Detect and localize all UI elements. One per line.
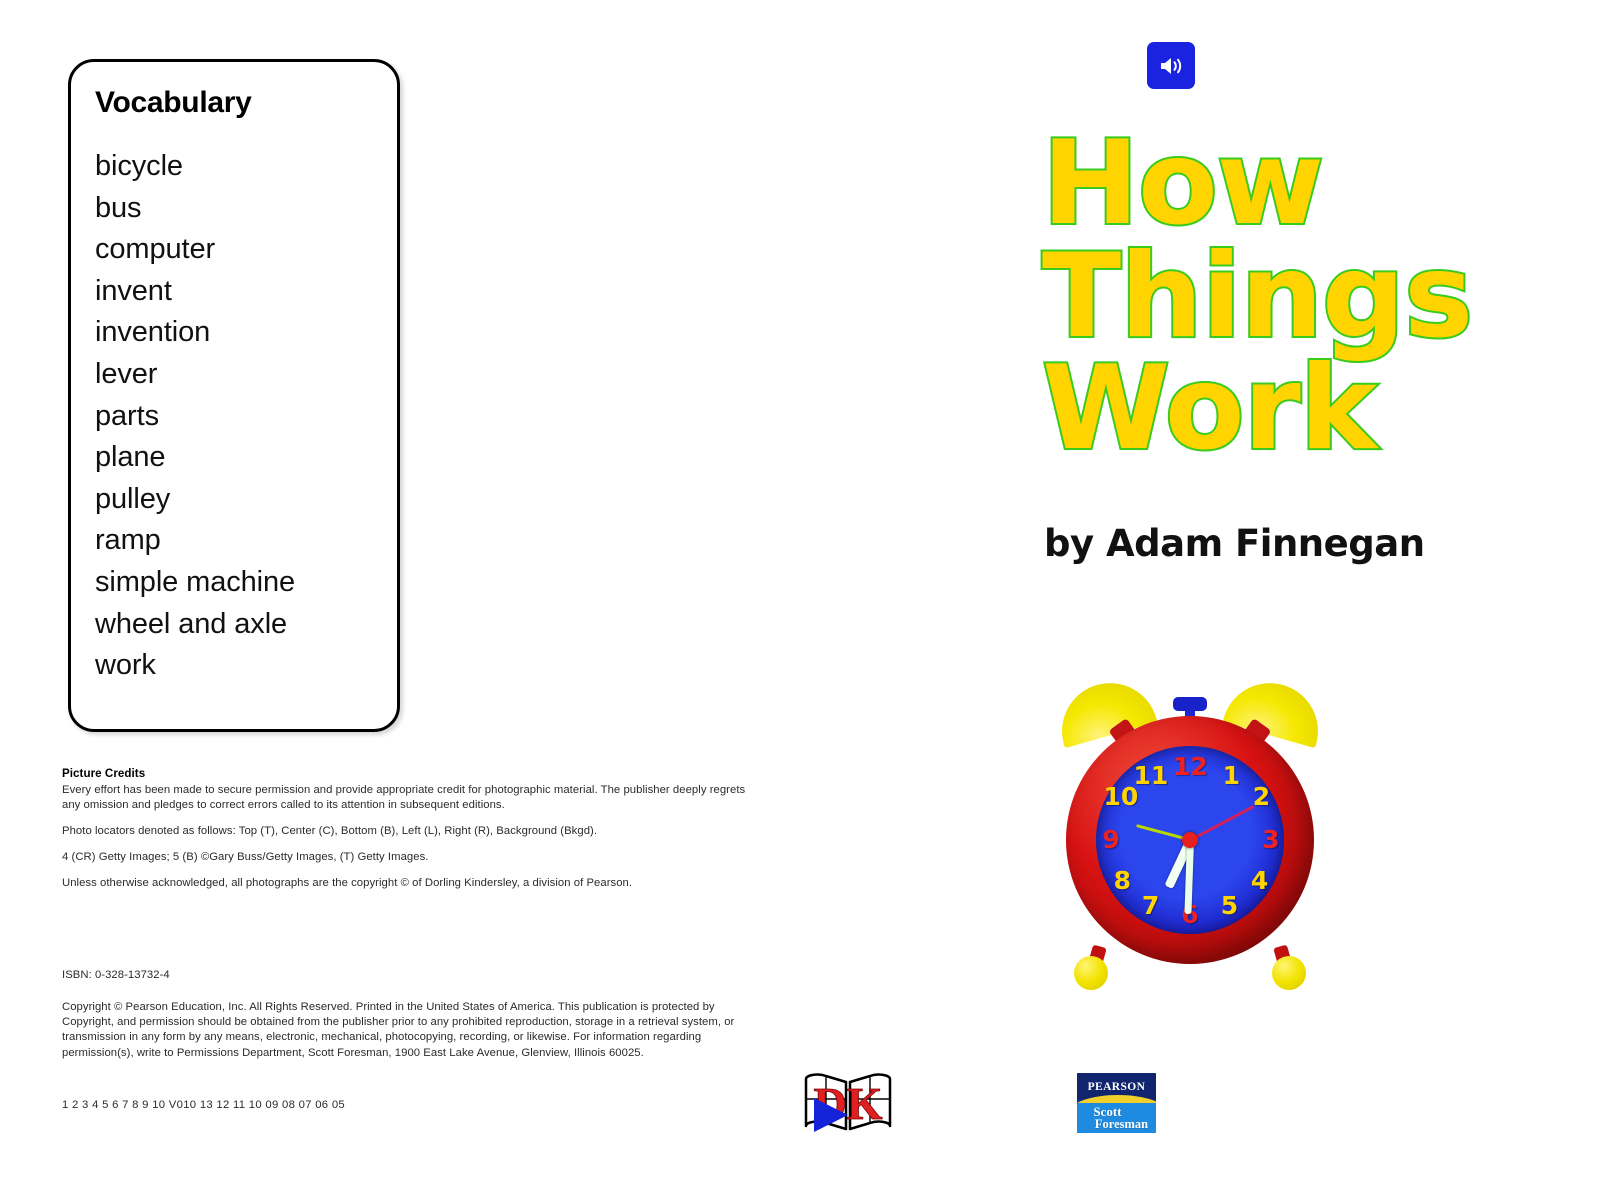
vocabulary-word-list: bicycle bus computer invent invention le…	[95, 146, 387, 687]
vocabulary-word: bus	[95, 188, 387, 230]
vocabulary-word: parts	[95, 396, 387, 438]
copyright-block: Copyright © Pearson Education, Inc. All …	[62, 1000, 762, 1061]
printing-code-line: 1 2 3 4 5 6 7 8 9 10 V010 13 12 11 10 09…	[62, 1098, 562, 1113]
clock-numeral: 3	[1254, 827, 1288, 852]
photo-credits-list: 4 (CR) Getty Images; 5 (B) ©Gary Buss/Ge…	[62, 850, 762, 865]
vocabulary-word: simple machine	[95, 562, 387, 604]
clock-body: 12 1 2 3 4 5 6 7 8 9 10 11	[1066, 716, 1314, 964]
scott-foresman-wordmark: Scott Foresman	[1077, 1103, 1156, 1133]
vocabulary-word: computer	[95, 229, 387, 271]
cover-title-line: Work	[1042, 353, 1600, 466]
vocabulary-word: work	[95, 645, 387, 687]
audio-play-button[interactable]	[1147, 42, 1195, 89]
photo-locators-note: Photo locators denoted as follows: Top (…	[62, 824, 762, 839]
vocabulary-word: pulley	[95, 479, 387, 521]
clock-knob	[1173, 697, 1207, 711]
vocabulary-word: invention	[95, 312, 387, 354]
pearson-label: PEARSON	[1088, 1081, 1146, 1093]
clock-numeral: 8	[1105, 868, 1139, 893]
vocabulary-word: wheel and axle	[95, 604, 387, 646]
picture-credits-body: Every effort has been made to secure per…	[62, 783, 762, 813]
clock-face: 12 1 2 3 4 5 6 7 8 9 10 11	[1096, 746, 1284, 934]
clock-numeral: 2	[1244, 784, 1278, 809]
right-page: How Things Work by Adam Finnegan 12 1 2 …	[800, 0, 1600, 1200]
clock-numeral: 1	[1214, 763, 1248, 788]
clock-numeral: 5	[1212, 893, 1246, 918]
clock-numeral: 7	[1134, 893, 1168, 918]
clock-numeral: 11	[1134, 763, 1168, 788]
play-next-button[interactable]	[800, 1090, 854, 1140]
vocabulary-title: Vocabulary	[95, 86, 252, 120]
speaker-icon	[1157, 54, 1185, 78]
vocabulary-word: ramp	[95, 520, 387, 562]
clock-second-hand	[1189, 805, 1254, 841]
clock-center-pin	[1182, 832, 1198, 848]
pearson-scott-foresman-logo: PEARSON Scott Foresman	[1077, 1073, 1156, 1133]
cover-title: How Things Work	[1042, 128, 1600, 466]
play-triangle-icon	[800, 1090, 854, 1140]
picture-credits-heading: Picture Credits	[62, 766, 145, 781]
cover-byline: by Adam Finnegan	[1044, 522, 1425, 565]
vocabulary-word: bicycle	[95, 146, 387, 188]
photo-copyright-note: Unless otherwise acknowledged, all photo…	[62, 876, 762, 891]
vocabulary-word: invent	[95, 271, 387, 313]
clock-foot-left	[1074, 956, 1108, 990]
left-page: Vocabulary bicycle bus computer invent i…	[0, 0, 800, 1200]
foresman-label: Foresman	[1087, 1118, 1156, 1131]
alarm-clock-illustration: 12 1 2 3 4 5 6 7 8 9 10 11	[1040, 672, 1340, 992]
clock-foot-right	[1272, 956, 1306, 990]
clock-numeral: 4	[1243, 868, 1277, 893]
vocabulary-word: plane	[95, 437, 387, 479]
isbn-line: ISBN: 0-328-13732-4	[62, 968, 462, 983]
clock-numeral: 10	[1103, 784, 1137, 809]
clock-numeral: 12	[1173, 754, 1207, 779]
vocabulary-word: lever	[95, 354, 387, 396]
cover-title-line: Things	[1042, 241, 1600, 354]
vocabulary-card: Vocabulary bicycle bus computer invent i…	[68, 59, 400, 732]
cover-title-line: How	[1042, 128, 1600, 241]
clock-numeral: 9	[1094, 827, 1128, 852]
